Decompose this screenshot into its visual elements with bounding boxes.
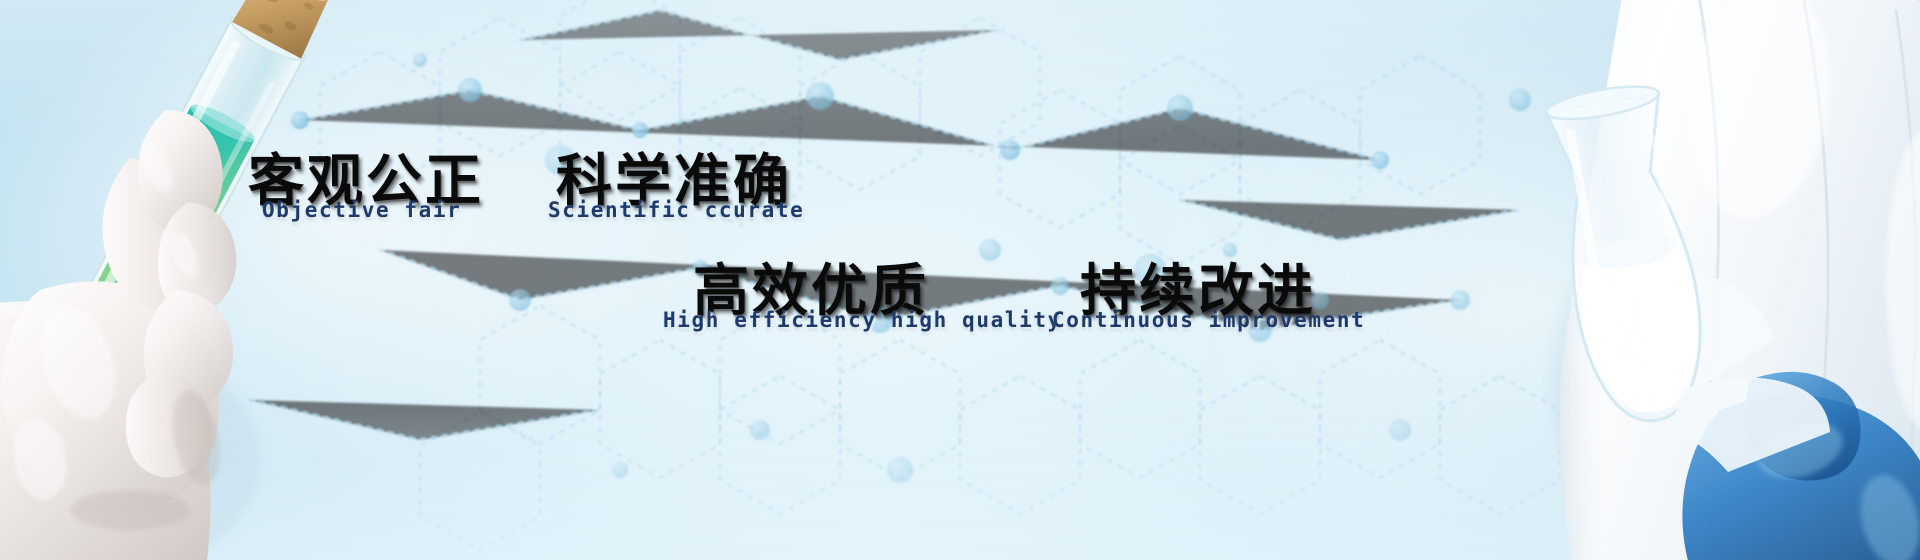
- slogan-subtitle-continuous-improvement: Continuous improvement: [1052, 308, 1365, 332]
- slogan-subtitle-high-efficiency: High efficiency high quality: [663, 308, 1062, 332]
- lab-quality-banner: 客观公正 Objective fair 科学准确 Scientific ccur…: [0, 0, 1920, 560]
- slogan-subtitle-scientific-accurate: Scientific ccurate: [548, 198, 804, 222]
- slogan-text-layer: 客观公正 Objective fair 科学准确 Scientific ccur…: [0, 0, 1920, 560]
- slogan-subtitle-objective-fair: Objective fair: [262, 198, 461, 222]
